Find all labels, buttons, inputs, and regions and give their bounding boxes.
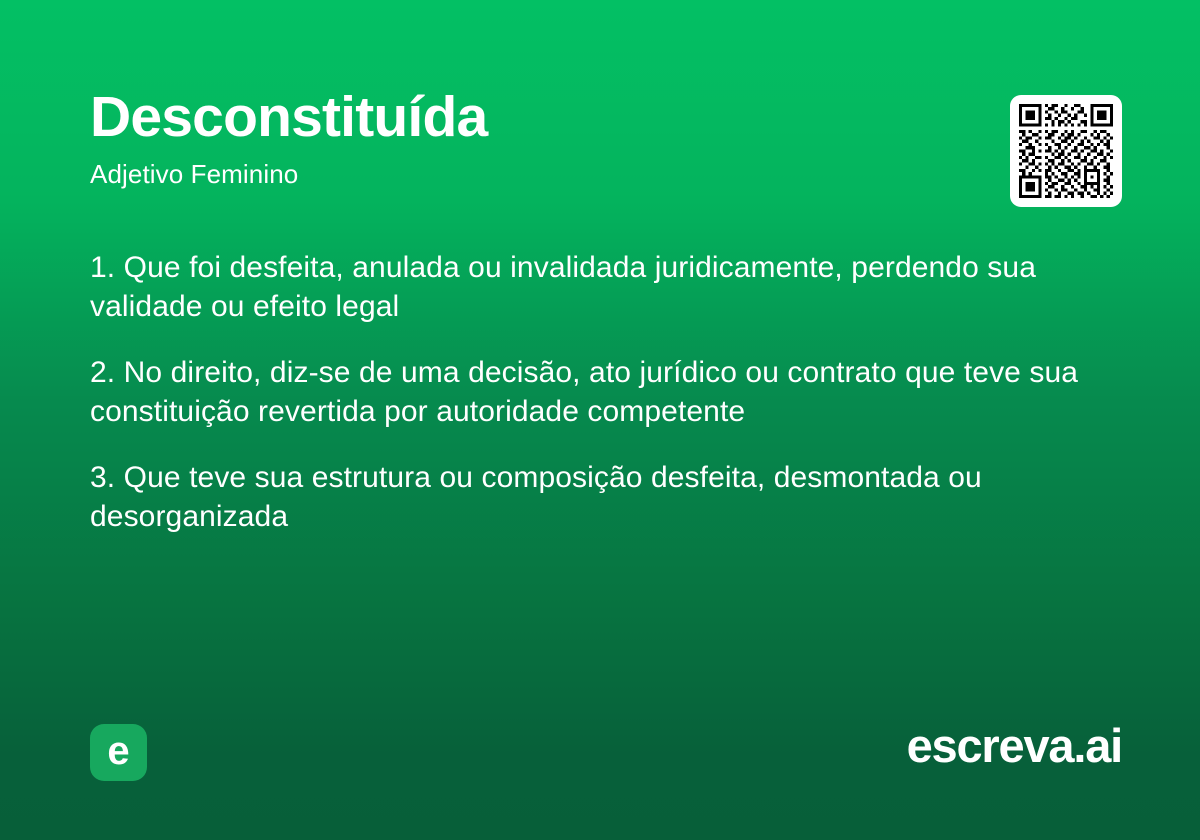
word-class-label: Adjetivo Feminino (90, 159, 970, 190)
dictionary-card: Desconstituída Adjetivo Feminino (0, 0, 1200, 840)
qr-code-card[interactable] (1010, 95, 1122, 207)
definition-item-1: 1. Que foi desfeita, anulada ou invalida… (90, 248, 1125, 326)
definition-item-2: 2. No direito, diz-se de uma decisão, at… (90, 353, 1125, 431)
definition-list: 1. Que foi desfeita, anulada ou invalida… (90, 248, 1125, 536)
brand-wordmark: escreva.ai (907, 722, 1122, 769)
escreva-logo-badge[interactable]: e (90, 724, 147, 781)
header: Desconstituída Adjetivo Feminino (90, 88, 970, 190)
page-title: Desconstituída (90, 88, 970, 147)
qr-code-icon (1019, 104, 1113, 198)
logo-letter-e: e (107, 731, 129, 771)
definition-item-3: 3. Que teve sua estrutura ou composição … (90, 458, 1125, 536)
